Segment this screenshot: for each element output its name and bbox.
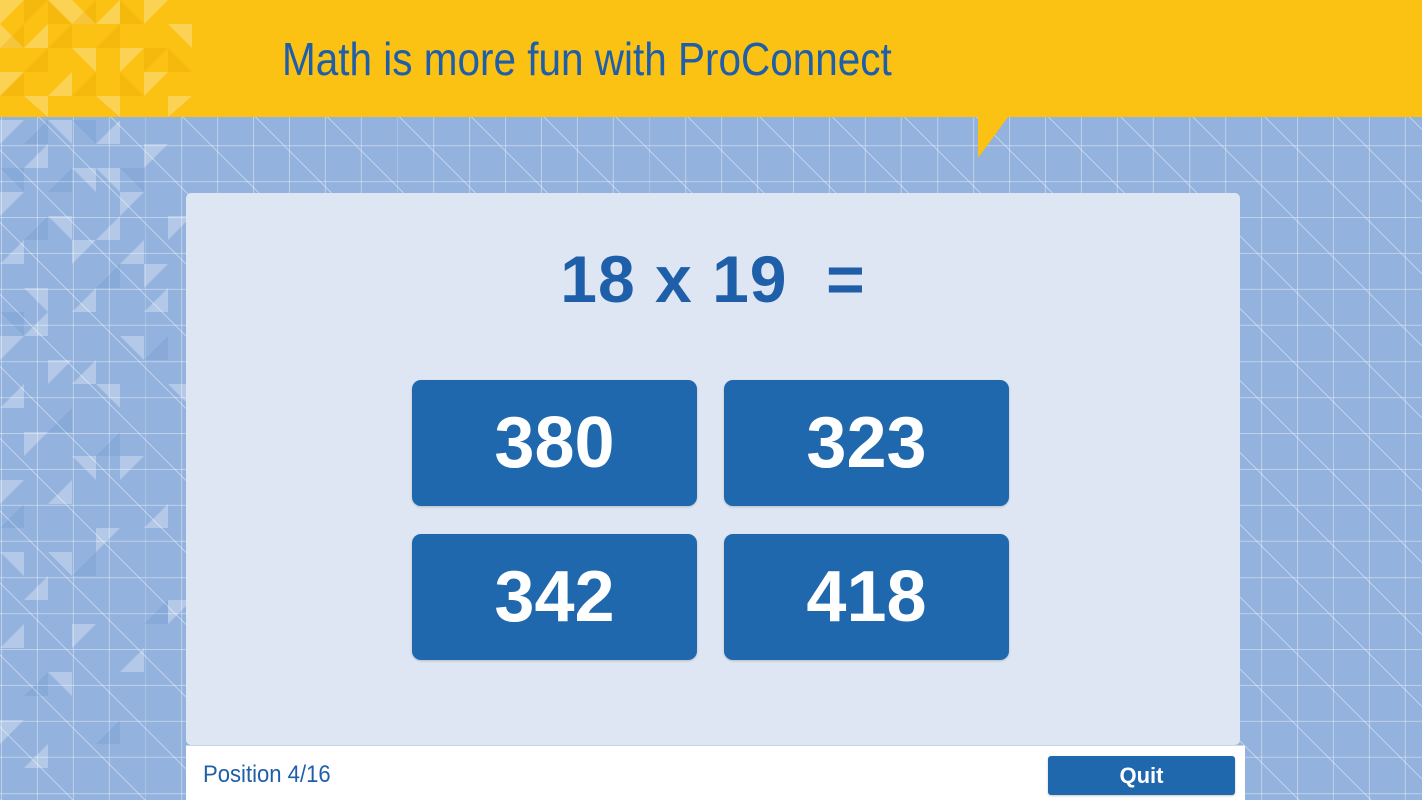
answer-button-2[interactable]: 323 xyxy=(724,380,1009,506)
header-banner: Math is more fun with ProConnect xyxy=(0,0,1422,117)
answer-button-1[interactable]: 380 xyxy=(412,380,697,506)
quiz-card: 18 x 19 = 380 323 342 418 xyxy=(186,193,1240,745)
question-text: 18 x 19 = xyxy=(186,241,1240,317)
answer-button-4[interactable]: 418 xyxy=(724,534,1009,660)
quit-button[interactable]: Quit xyxy=(1048,756,1235,795)
banner-speech-tail xyxy=(978,117,1008,158)
answer-button-3[interactable]: 342 xyxy=(412,534,697,660)
page-title: Math is more fun with ProConnect xyxy=(85,0,1336,117)
answer-options-grid: 380 323 342 418 xyxy=(412,380,1009,660)
app-root: Math is more fun with ProConnect 18 x 19… xyxy=(0,0,1422,800)
position-indicator: Position 4/16 xyxy=(203,761,331,789)
footer-bar: Position 4/16 Quit xyxy=(186,745,1245,800)
